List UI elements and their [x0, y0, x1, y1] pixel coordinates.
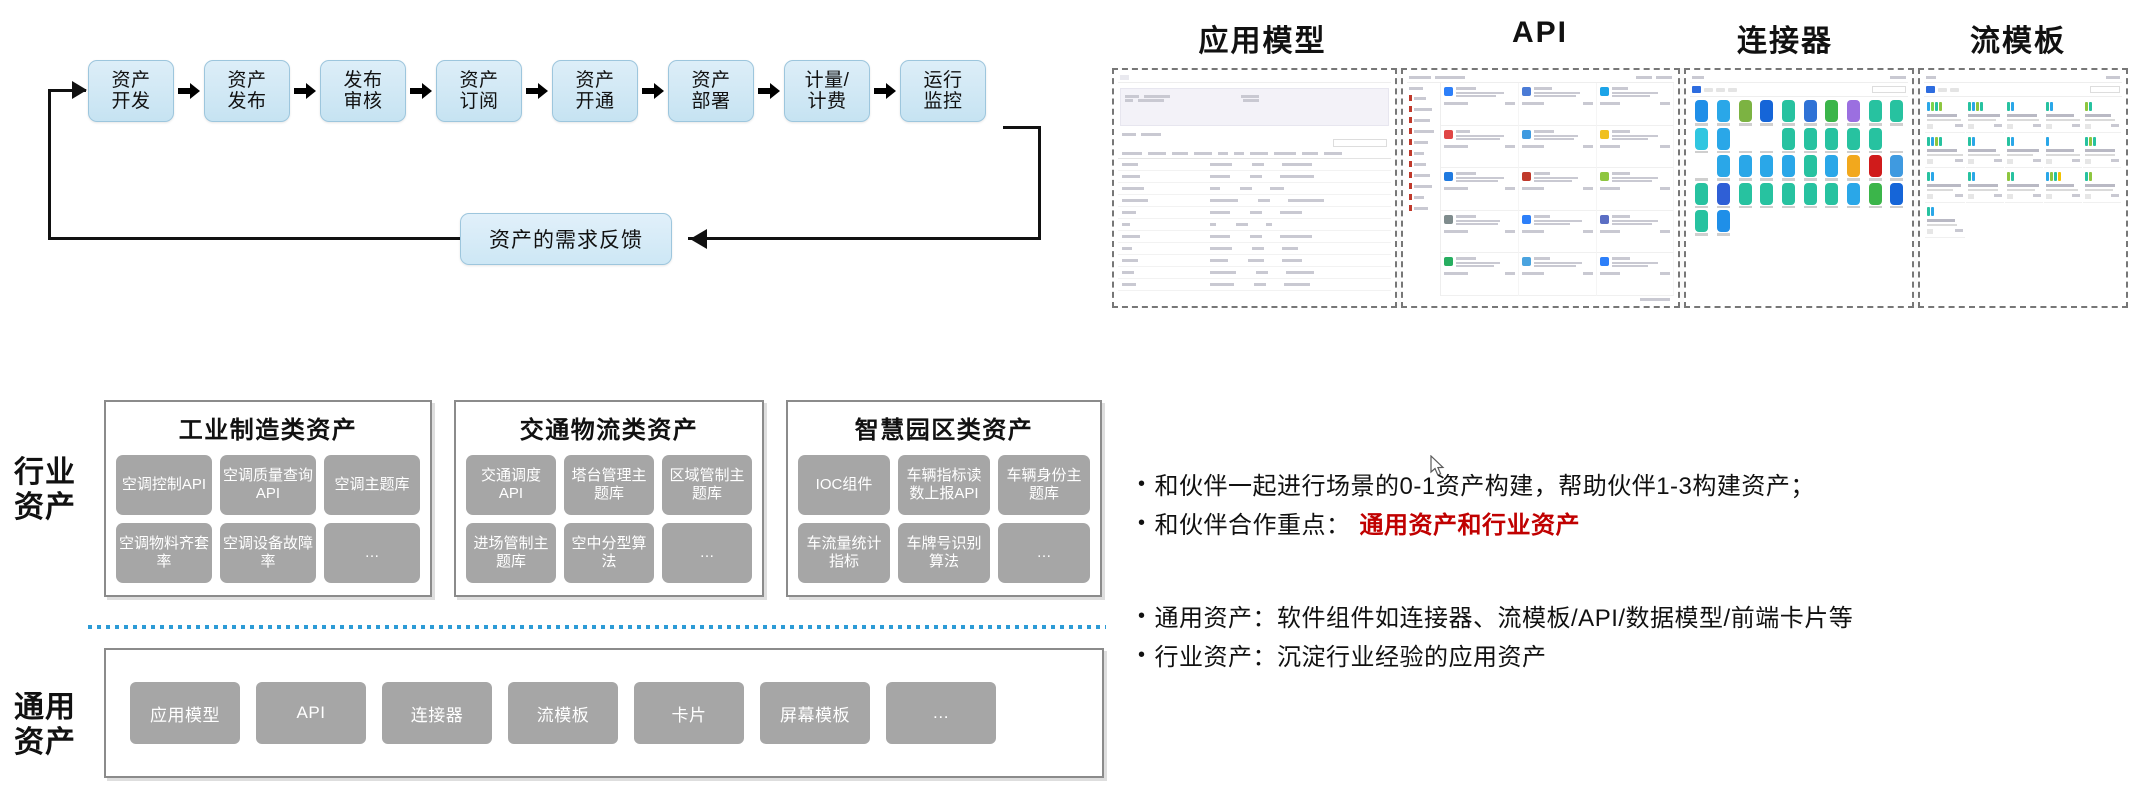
flow-template-card[interactable]	[1966, 169, 2004, 203]
bullet-text: 和伙伴一起进行场景的0-1资产构建，帮助伙伴1-3构建资产；	[1155, 468, 1815, 507]
api-card[interactable]	[1441, 211, 1519, 254]
connector-item[interactable]	[1865, 183, 1886, 209]
api-card[interactable]	[1441, 168, 1519, 211]
flow-step-label-line2: 审核	[343, 91, 382, 112]
flow-template-card-grid	[1924, 97, 2122, 240]
flow-template-card[interactable]	[1966, 134, 2004, 168]
section-divider	[88, 625, 1106, 629]
connector-item[interactable]	[1843, 183, 1864, 209]
general-assets-side-label: 通用 资产	[14, 690, 104, 761]
bullet-group-primary: • 和伙伴一起进行场景的0-1资产构建，帮助伙伴1-3构建资产； • 和伙伴合作…	[1138, 468, 2118, 546]
table-row[interactable]	[1118, 195, 1391, 207]
flow-step-runtime-monitoring[interactable]: 运行 监控	[900, 60, 986, 122]
flow-template-card[interactable]	[1966, 99, 2004, 133]
mouse-cursor-icon	[1430, 455, 1446, 477]
mini-topbar	[1690, 73, 1908, 83]
connector-item[interactable]	[1778, 128, 1799, 154]
view-toggle-active[interactable]	[1926, 86, 1935, 93]
mini-search-field[interactable]	[2090, 86, 2120, 93]
flow-step-label-line2: 监控	[923, 91, 962, 112]
bullet-highlight-text: 通用资产和行业资产	[1360, 507, 1581, 546]
mini-search-field[interactable]	[1118, 137, 1391, 149]
connector-item[interactable]	[1865, 128, 1886, 154]
connector-item[interactable]	[1756, 183, 1777, 209]
mini-topbar	[1924, 73, 2122, 83]
connector-item[interactable]	[1756, 128, 1777, 154]
asset-tile[interactable]: 空调主题库	[324, 455, 420, 515]
arrow-right-icon	[754, 60, 784, 122]
asset-tile[interactable]: 车辆指标读数上报API	[898, 455, 990, 515]
loop-arrowhead-right-icon	[72, 81, 87, 99]
api-card[interactable]	[1597, 83, 1675, 126]
table-row[interactable]	[1118, 243, 1391, 255]
asset-tile[interactable]: 空中分型算法	[564, 523, 654, 583]
api-card[interactable]	[1597, 168, 1675, 211]
bullet-item: • 和伙伴一起进行场景的0-1资产构建，帮助伙伴1-3构建资产；	[1138, 468, 2118, 507]
asset-tile[interactable]: 进场管制主题库	[466, 523, 556, 583]
connector-item[interactable]	[1691, 155, 1712, 181]
bullet-text: 通用资产：软件组件如连接器、流模板/API/数据模型/前端卡片等	[1155, 600, 1854, 639]
connector-item[interactable]	[1821, 183, 1842, 209]
loop-line-left-vertical	[48, 91, 51, 239]
sidebar-item[interactable]	[1409, 172, 1438, 178]
flow-template-card[interactable]	[1925, 99, 1965, 133]
flow-step-label-line2: 开通	[575, 91, 614, 112]
industry-asset-categories: 工业制造类资产 空调控制API 空调质量查询API 空调主题库 空调物料齐套率 …	[104, 400, 1102, 597]
filter-chip[interactable]	[1716, 88, 1725, 92]
asset-tile[interactable]: 空调设备故障率	[220, 523, 316, 583]
mini-pagination[interactable]	[1407, 296, 1675, 303]
asset-tile-more[interactable]: …	[662, 523, 752, 583]
connector-item[interactable]	[1843, 128, 1864, 154]
table-row[interactable]	[1118, 183, 1391, 195]
general-asset-tile[interactable]: 流模板	[508, 682, 618, 744]
connector-item[interactable]	[1691, 128, 1712, 154]
flow-step-label-line1: 计量/	[805, 70, 850, 91]
api-card[interactable]	[1519, 211, 1597, 254]
view-toggle-active[interactable]	[1692, 86, 1701, 93]
flow-step-label-line2: 开发	[111, 91, 150, 112]
flow-step-metering-billing[interactable]: 计量/ 计费	[784, 60, 870, 122]
left-diagram-column: 资产 开发 资产 发布 发布 审核 资产 订阅	[0, 0, 1110, 807]
arrow-right-icon	[638, 60, 668, 122]
connector-item[interactable]	[1821, 100, 1842, 126]
api-card[interactable]	[1519, 83, 1597, 126]
screenshot-application-model[interactable]	[1112, 68, 1397, 308]
arrow-right-icon	[174, 60, 204, 122]
connector-item[interactable]	[1887, 155, 1908, 181]
asset-tile[interactable]: 空调质量查询API	[220, 455, 316, 515]
loop-line-bottom-right	[688, 237, 1040, 240]
general-asset-tile[interactable]: 屏幕模板	[760, 682, 870, 744]
mini-toolbar[interactable]	[1690, 83, 1908, 97]
industry-assets-side-label: 行业 资产	[14, 455, 104, 526]
arrow-right-icon	[406, 60, 436, 122]
asset-demand-feedback-box[interactable]: 资产的需求反馈	[460, 213, 672, 265]
loop-line-right-horizontal	[1003, 126, 1041, 129]
flow-step-label-line2: 发布	[227, 91, 266, 112]
flow-step-publish-review[interactable]: 发布 审核	[320, 60, 406, 122]
feedback-label: 资产的需求反馈	[489, 224, 643, 254]
connector-item[interactable]	[1713, 128, 1734, 154]
bullet-text: 行业资产：沉淀行业经验的应用资产	[1155, 639, 1547, 678]
connector-item[interactable]	[1778, 100, 1799, 126]
flow-step-label-line2: 计费	[807, 91, 846, 112]
bullet-group-secondary: • 通用资产：软件组件如连接器、流模板/API/数据模型/前端卡片等 • 行业资…	[1138, 600, 2118, 678]
flow-template-card[interactable]	[2044, 134, 2082, 168]
table-row[interactable]	[1118, 255, 1391, 267]
api-card[interactable]	[1597, 253, 1675, 296]
bullet-marker: •	[1138, 507, 1146, 539]
connector-item[interactable]	[1756, 155, 1777, 181]
connector-item[interactable]	[1778, 155, 1799, 181]
connector-item[interactable]	[1691, 183, 1712, 209]
connector-item[interactable]	[1691, 100, 1712, 126]
flow-template-card[interactable]	[2005, 99, 2043, 133]
mini-sidebar[interactable]	[1407, 83, 1441, 296]
connector-item[interactable]	[1778, 183, 1799, 209]
sidebar-item[interactable]	[1409, 194, 1438, 200]
flow-step-label-line1: 资产	[459, 70, 498, 91]
connector-item[interactable]	[1800, 155, 1821, 181]
panel-header-application-model: 应用模型	[1110, 16, 1415, 62]
connector-item[interactable]	[1821, 128, 1842, 154]
sidebar-item[interactable]	[1409, 128, 1438, 134]
asset-tile[interactable]: 车辆身份主题库	[998, 455, 1090, 515]
general-asset-tile[interactable]: 连接器	[382, 682, 492, 744]
sidebar-item[interactable]	[1409, 106, 1438, 112]
flow-template-card[interactable]	[2083, 169, 2121, 203]
sidebar-item[interactable]	[1409, 117, 1438, 123]
product-screenshot-strip	[1112, 68, 2128, 308]
sidebar-item[interactable]	[1409, 161, 1438, 167]
flow-step-asset-deploy[interactable]: 资产 部署	[668, 60, 754, 122]
connector-item[interactable]	[1735, 183, 1756, 209]
flow-step-label-line1: 资产	[227, 70, 266, 91]
mini-breadcrumb	[1120, 75, 1129, 80]
mini-toolbar[interactable]	[1924, 83, 2122, 97]
category-tile-grid: 交通调度API 塔台管理主题库 区域管制主题库 进场管制主题库 空中分型算法 …	[466, 455, 752, 583]
asset-tile[interactable]: 塔台管理主题库	[564, 455, 654, 515]
connector-item[interactable]	[1800, 100, 1821, 126]
arrow-right-icon	[522, 60, 552, 122]
connector-item[interactable]	[1800, 128, 1821, 154]
flow-template-card[interactable]	[1925, 204, 1965, 238]
filter-chip[interactable]	[1704, 88, 1713, 92]
sidebar-item[interactable]	[1409, 139, 1438, 145]
flow-step-label-line1: 发布	[343, 70, 382, 91]
asset-lifecycle-flow: 资产 开发 资产 发布 发布 审核 资产 订阅	[0, 0, 1110, 290]
filter-chip[interactable]	[1728, 88, 1737, 92]
flow-step-asset-development[interactable]: 资产 开发	[88, 60, 174, 122]
bullet-item: • 通用资产：软件组件如连接器、流模板/API/数据模型/前端卡片等	[1138, 600, 2118, 639]
bullet-marker: •	[1138, 600, 1146, 632]
screenshot-connector[interactable]	[1684, 68, 1914, 308]
connector-item[interactable]	[1713, 100, 1734, 126]
flow-step-label-line2: 部署	[691, 91, 730, 112]
api-card[interactable]	[1519, 253, 1597, 296]
connector-item[interactable]	[1713, 183, 1734, 209]
filter-chip[interactable]	[1938, 88, 1947, 92]
flow-step-label-line1: 资产	[575, 70, 614, 91]
category-title: 交通物流类资产	[466, 410, 752, 445]
general-asset-tile[interactable]: 卡片	[634, 682, 744, 744]
api-card[interactable]	[1519, 168, 1597, 211]
mini-topbar	[1407, 73, 1675, 83]
connector-item[interactable]	[1887, 183, 1908, 209]
panel-header-flow-template: 流模板	[1905, 16, 2131, 62]
filter-chip[interactable]	[1950, 88, 1959, 92]
api-card[interactable]	[1519, 126, 1597, 169]
flow-template-card[interactable]	[1925, 169, 1965, 203]
connector-item[interactable]	[1843, 100, 1864, 126]
table-row[interactable]	[1118, 267, 1391, 279]
table-row[interactable]	[1118, 231, 1391, 243]
general-asset-tile[interactable]: 应用模型	[130, 682, 240, 744]
general-asset-tile-more[interactable]: …	[886, 682, 996, 744]
general-assets-card: 应用模型 API 连接器 流模板 卡片 屏幕模板 …	[104, 648, 1104, 778]
flow-template-card[interactable]	[2044, 99, 2082, 133]
flow-step-label-line1: 运行	[923, 70, 962, 91]
flow-template-card[interactable]	[2044, 169, 2082, 203]
asset-tile-more[interactable]: …	[998, 523, 1090, 583]
bullet-marker: •	[1138, 468, 1146, 500]
flow-template-card[interactable]	[2083, 134, 2121, 168]
connector-item[interactable]	[1821, 155, 1842, 181]
industry-assets-side-label-line1: 行业	[14, 455, 104, 490]
connector-item[interactable]	[1865, 155, 1886, 181]
arrow-right-icon	[870, 60, 900, 122]
loop-line-right-vertical	[1038, 126, 1041, 240]
asset-tile[interactable]: 空调控制API	[116, 455, 212, 515]
flow-template-card[interactable]	[2005, 169, 2043, 203]
table-row[interactable]	[1118, 219, 1391, 231]
sidebar-item[interactable]	[1409, 150, 1438, 156]
asset-tile[interactable]: IOC组件	[798, 455, 890, 515]
flow-step-asset-subscribe[interactable]: 资产 订阅	[436, 60, 522, 122]
connector-item[interactable]	[1843, 155, 1864, 181]
api-card-grid	[1441, 83, 1675, 296]
loop-line-bottom-left	[48, 237, 460, 240]
connector-item[interactable]	[1800, 183, 1821, 209]
bullet-item: • 行业资产：沉淀行业经验的应用资产	[1138, 639, 2118, 678]
mini-table-header	[1118, 149, 1391, 159]
mini-search-field[interactable]	[1872, 86, 1906, 93]
industry-assets-side-label-line2: 资产	[14, 490, 104, 525]
flow-step-label-line1: 资产	[691, 70, 730, 91]
sidebar-item[interactable]	[1409, 95, 1438, 101]
flow-template-card[interactable]	[2005, 134, 2043, 168]
mini-topbar	[1118, 73, 1391, 83]
flow-step-asset-publish[interactable]: 资产 发布	[204, 60, 290, 122]
asset-tile[interactable]: 区域管制主题库	[662, 455, 752, 515]
table-row[interactable]	[1118, 207, 1391, 219]
table-row[interactable]	[1118, 171, 1391, 183]
sidebar-item[interactable]	[1409, 183, 1438, 189]
panel-header-connector: 连接器	[1665, 16, 1905, 62]
connector-item[interactable]	[1756, 100, 1777, 126]
category-title: 智慧园区类资产	[798, 410, 1090, 445]
general-assets-side-label-line1: 通用	[14, 690, 104, 725]
api-card[interactable]	[1441, 253, 1519, 296]
general-asset-tile[interactable]: API	[256, 682, 366, 744]
flow-template-card[interactable]	[2083, 99, 2121, 133]
connector-item[interactable]	[1887, 100, 1908, 126]
connector-item[interactable]	[1713, 210, 1734, 236]
asset-category-card-manufacturing: 工业制造类资产 空调控制API 空调质量查询API 空调主题库 空调物料齐套率 …	[104, 400, 432, 597]
api-card[interactable]	[1441, 126, 1519, 169]
asset-category-card-smart-park: 智慧园区类资产 IOC组件 车辆指标读数上报API 车辆身份主题库 车流量统计指…	[786, 400, 1102, 597]
asset-tile[interactable]: 交通调度API	[466, 455, 556, 515]
flow-step-label-line1: 资产	[111, 70, 150, 91]
asset-tile[interactable]: 车牌号识别算法	[898, 523, 990, 583]
screenshot-api[interactable]	[1401, 68, 1681, 308]
connector-item[interactable]	[1735, 155, 1756, 181]
connector-item[interactable]	[1887, 128, 1908, 154]
flow-template-card[interactable]	[1925, 134, 1965, 168]
flow-step-label-line2: 订阅	[459, 91, 498, 112]
api-card[interactable]	[1597, 211, 1675, 254]
table-row[interactable]	[1118, 159, 1391, 171]
flow-step-asset-activation[interactable]: 资产 开通	[552, 60, 638, 122]
asset-tile[interactable]: 车流量统计指标	[798, 523, 890, 583]
connector-icon-grid	[1690, 97, 1908, 239]
connector-item[interactable]	[1865, 100, 1886, 126]
flow-step-row: 资产 开发 资产 发布 发布 审核 资产 订阅	[88, 60, 986, 122]
panel-header-row: 应用模型 API 连接器 流模板	[1110, 16, 2131, 62]
asset-tile[interactable]: 空调物料齐套率	[116, 523, 212, 583]
connector-item[interactable]	[1735, 100, 1756, 126]
panel-header-api: API	[1415, 16, 1665, 62]
mini-filter-panel	[1120, 88, 1389, 126]
right-screenshots-column: 应用模型 API 连接器 流模板	[1110, 0, 2131, 807]
loop-arrowhead-left-icon	[690, 229, 707, 249]
connector-item[interactable]	[1735, 128, 1756, 154]
screenshot-flow-template[interactable]	[1918, 68, 2128, 308]
bullet-item: • 和伙伴合作重点： 通用资产和行业资产	[1138, 507, 2118, 546]
api-card[interactable]	[1441, 83, 1519, 126]
connector-item[interactable]	[1713, 155, 1734, 181]
category-tile-grid: IOC组件 车辆指标读数上报API 车辆身份主题库 车流量统计指标 车牌号识别算…	[798, 455, 1090, 583]
asset-tile-more[interactable]: …	[324, 523, 420, 583]
bullet-text: 和伙伴合作重点：	[1155, 507, 1351, 546]
arrow-right-icon	[290, 60, 320, 122]
sidebar-item[interactable]	[1409, 205, 1438, 211]
api-card[interactable]	[1597, 126, 1675, 169]
category-tile-grid: 空调控制API 空调质量查询API 空调主题库 空调物料齐套率 空调设备故障率 …	[116, 455, 420, 583]
table-row[interactable]	[1118, 279, 1391, 291]
asset-category-card-transport-logistics: 交通物流类资产 交通调度API 塔台管理主题库 区域管制主题库 进场管制主题库 …	[454, 400, 764, 597]
bullet-marker: •	[1138, 639, 1146, 671]
general-assets-side-label-line2: 资产	[14, 725, 104, 760]
connector-item[interactable]	[1691, 210, 1712, 236]
category-title: 工业制造类资产	[116, 410, 420, 445]
